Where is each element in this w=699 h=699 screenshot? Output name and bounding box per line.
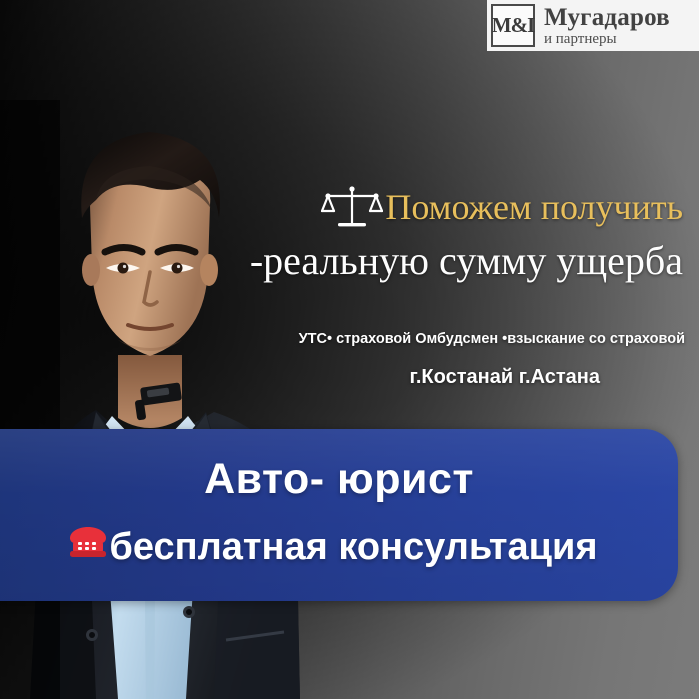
banner-title: Авто- юрист: [0, 455, 678, 504]
monogram-box-icon: M&I: [491, 4, 535, 47]
advertisement-poster: M&I Мугадаров и партнеры: [0, 0, 699, 699]
logo-title: Мугадаров: [544, 5, 670, 30]
banner-subtitle: бесплатная консультация: [109, 526, 597, 569]
headline-line-1-row: Поможем получить: [0, 185, 683, 237]
services-line: УТС• страховой Омбудсмен •взыскание со с…: [0, 331, 692, 347]
banner-subtitle-row: бесплатная консультация: [0, 525, 666, 569]
scales-of-justice-icon: [321, 185, 383, 237]
headline-line-2: -реальную сумму ущерба: [0, 239, 683, 283]
logo-subtitle: и партнеры: [544, 32, 670, 47]
banner-inner: Авто- юрист: [0, 429, 678, 601]
cities-line: г.Костанай г.Астана: [0, 366, 600, 389]
company-logo: M&I Мугадаров и партнеры: [487, 0, 699, 51]
headline-line-1: Поможем получить: [385, 187, 683, 227]
logo-mark-text: M&I: [492, 15, 535, 36]
telephone-icon: [68, 525, 108, 569]
headline: Поможем получить -реальную сумму ущерба: [0, 185, 691, 283]
logo-words: Мугадаров и партнеры: [544, 5, 670, 47]
cta-banner[interactable]: Авто- юрист: [0, 429, 678, 601]
